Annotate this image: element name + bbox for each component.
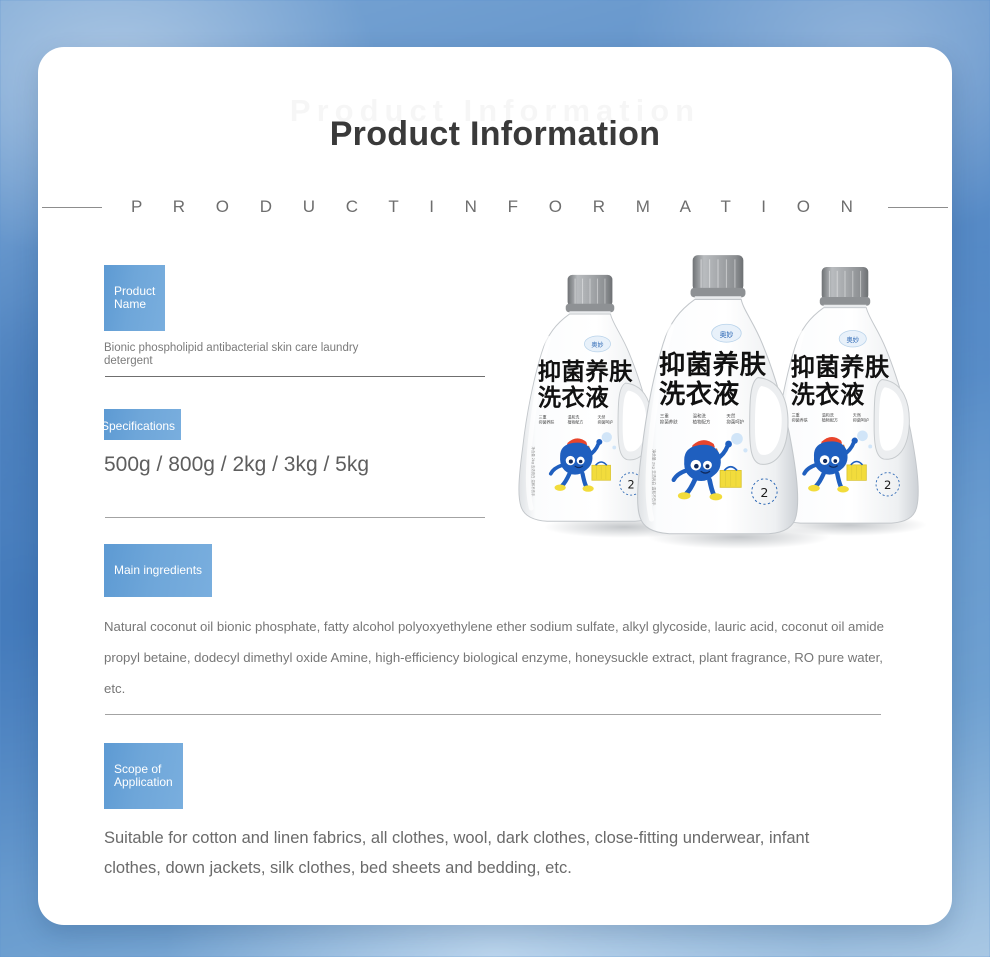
page-title: Product Information xyxy=(38,115,952,154)
section-specifications: Specifications 500g / 800g / 2kg / 3kg /… xyxy=(104,409,369,478)
badge-main-ingredients: Main ingredients xyxy=(104,544,212,597)
subtitle-rule-right xyxy=(888,207,948,208)
subtitle-row: P R O D U C T I N F O R M A T I O N xyxy=(100,195,890,219)
divider-1 xyxy=(105,376,485,377)
section-main-ingredients: Main ingredients Natural coconut oil bio… xyxy=(104,544,894,704)
scope-of-application-value: Suitable for cotton and linen fabrics, a… xyxy=(104,823,824,883)
page-subtitle: P R O D U C T I N F O R M A T I O N xyxy=(124,197,866,217)
subtitle-rule-left xyxy=(42,207,102,208)
main-ingredients-value: Natural coconut oil bionic phosphate, fa… xyxy=(104,611,884,704)
badge-product-name: Product Name xyxy=(104,265,165,331)
specifications-value: 500g / 800g / 2kg / 3kg / 5kg xyxy=(104,452,369,478)
divider-3 xyxy=(105,714,881,715)
product-information-card: Product Information Product Information … xyxy=(38,47,952,925)
product-photo: 奥妙 抑菌养肤 洗衣液 三重 抑菌养肤 温和洗 植物配方 天然 抑菌呵护 xyxy=(504,245,934,555)
badge-scope-of-application: Scope of Application xyxy=(104,743,183,809)
product-name-value: Bionic phospholipid antibacterial skin c… xyxy=(104,342,404,368)
badge-specifications: Specifications xyxy=(104,409,181,440)
divider-2 xyxy=(105,517,485,518)
section-scope-of-application: Scope of Application Suitable for cotton… xyxy=(104,743,894,883)
section-product-name: Product Name Bionic phospholipid antibac… xyxy=(104,265,404,368)
